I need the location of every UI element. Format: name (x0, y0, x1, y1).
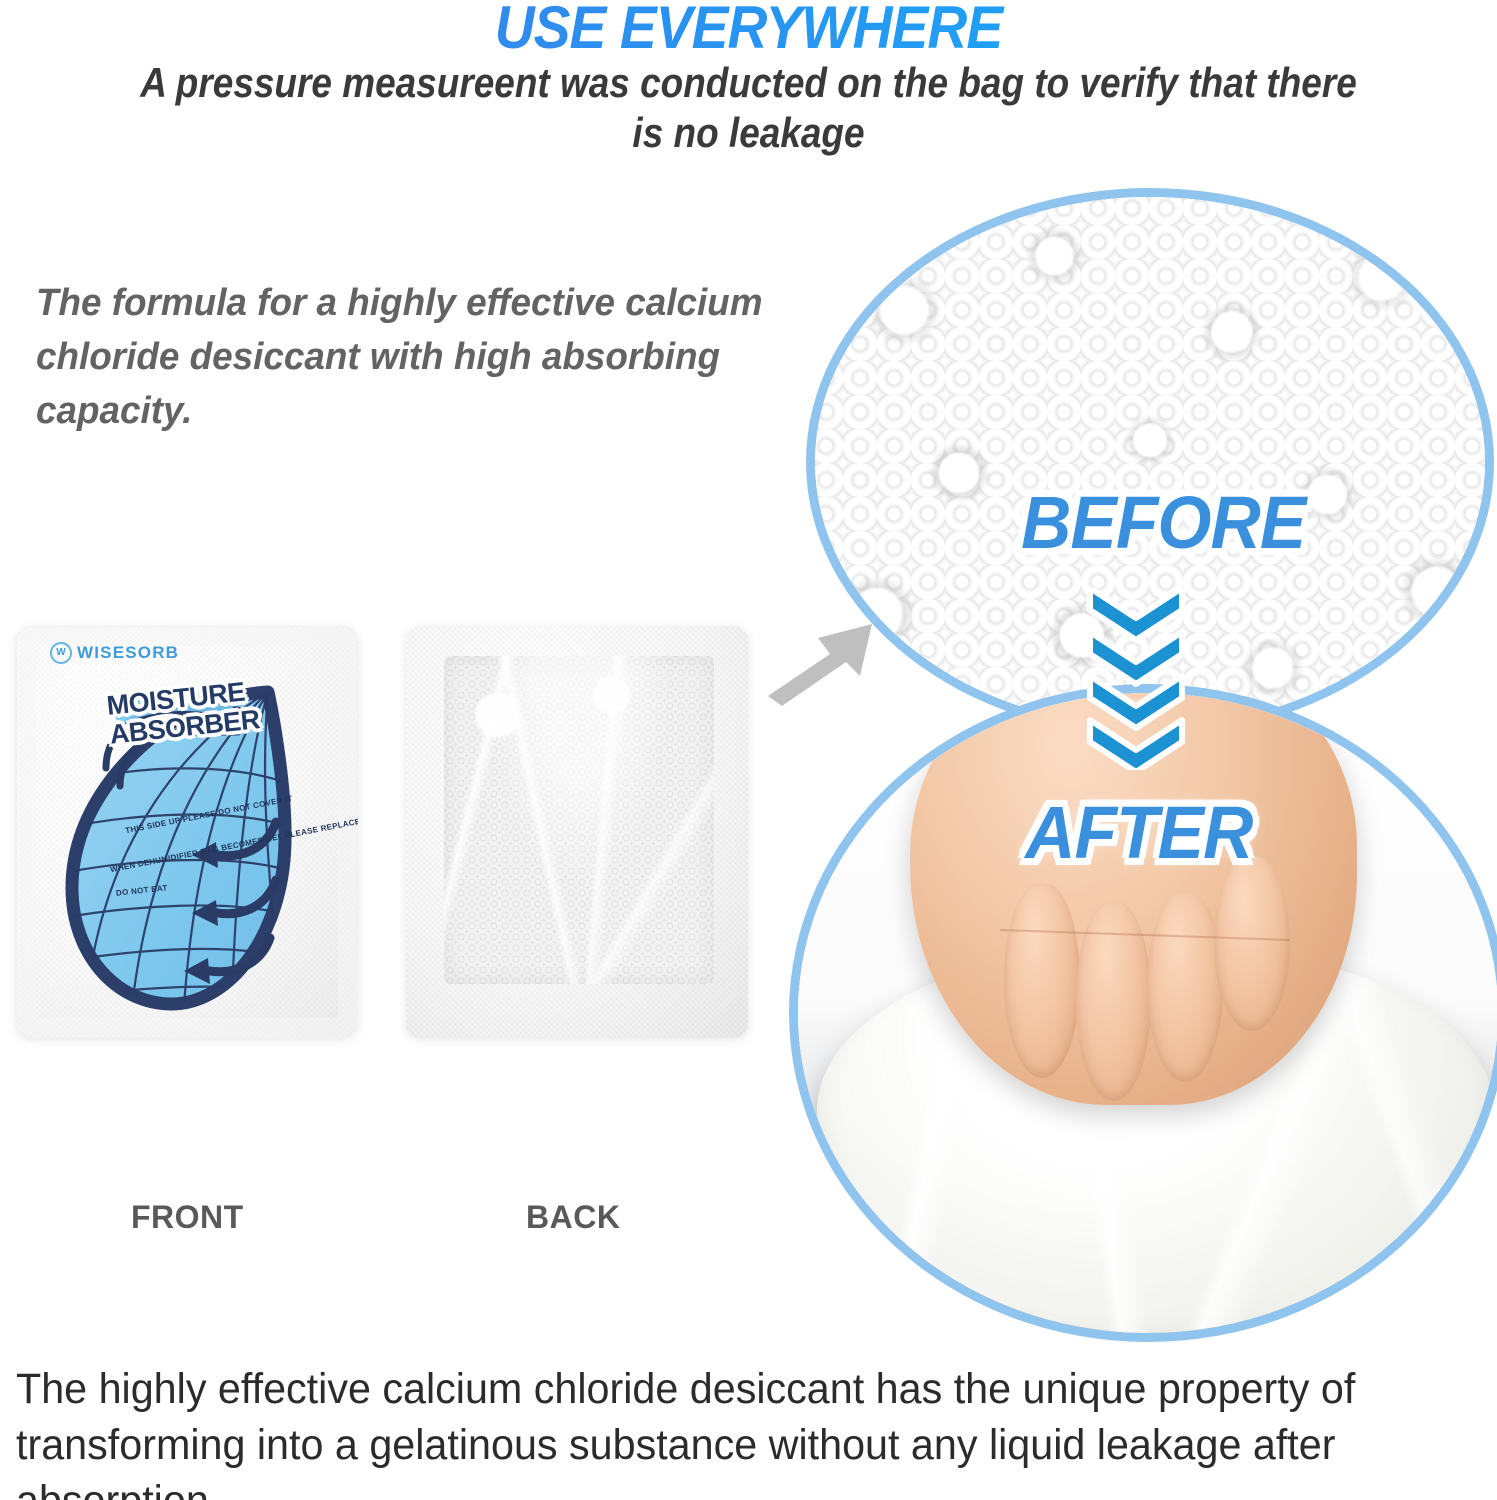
after-image-circle (789, 684, 1497, 1342)
footer-description: The highly effective calcium chloride de… (16, 1362, 1427, 1500)
packet-caption-front: FRONT (131, 1199, 244, 1236)
before-label: BEFORE (1021, 480, 1305, 565)
packet-caption-back: BACK (526, 1199, 620, 1236)
chevron-down-icon-stack (1080, 588, 1192, 770)
product-packet-front: W WISESORB (16, 626, 358, 1038)
brand-logo: W WISESORB (50, 642, 179, 664)
knuckle (1214, 856, 1290, 1032)
formula-description: The formula for a highly effective calci… (36, 277, 793, 439)
knuckle (1004, 884, 1080, 1078)
page-subtitle: A pressure measureent was conducted on t… (134, 58, 1363, 157)
after-label: AFTER (1025, 790, 1252, 875)
desiccant-beads (444, 656, 714, 984)
infographic-page: USE EVERYWHERE A pressure measureent was… (0, 0, 1497, 1500)
page-title: USE EVERYWHERE (60, 0, 1437, 59)
fist-pressing-gel-pouch (789, 684, 1497, 1342)
brand-name-label: WISESORB (77, 643, 179, 663)
knuckle (1147, 893, 1223, 1082)
product-packet-back (406, 626, 748, 1038)
wisesorb-logo-icon: W (50, 642, 72, 664)
chevron-down-icon (1090, 588, 1182, 640)
